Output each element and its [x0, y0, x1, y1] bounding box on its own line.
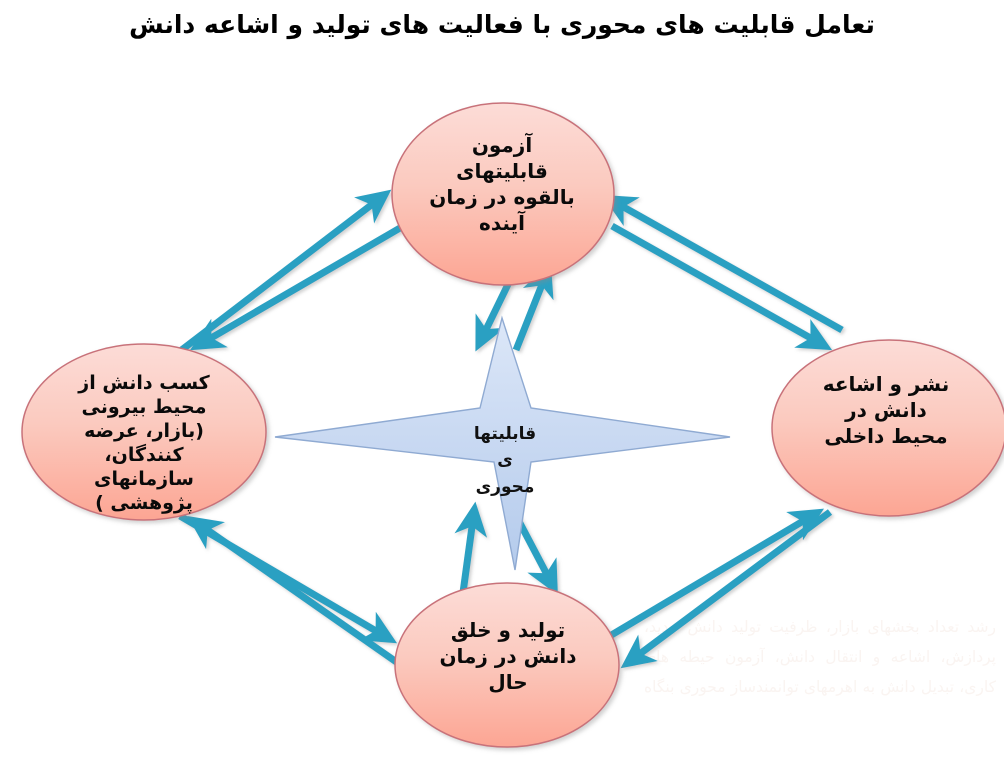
label-layer: آزمون قابلیتهای بالقوه در زمان آینده کسب…	[0, 0, 1004, 768]
node-label-bottom: تولید و خلق دانش در زمان حال	[410, 617, 606, 695]
node-label-right: نشر و اشاعه دانش در محیط داخلی	[790, 371, 982, 449]
node-label-top: آزمون قابلیتهای بالقوه در زمان آینده	[402, 132, 602, 236]
diagram-canvas: رشد تعداد بخشهای بازار، ظرفیت تولید دانش…	[0, 0, 1004, 768]
center-star-label: قابلیتها ی محوری	[442, 421, 568, 500]
node-label-left: کسب دانش از محیط بیرونی (بازار، عرضه کنن…	[40, 372, 248, 516]
